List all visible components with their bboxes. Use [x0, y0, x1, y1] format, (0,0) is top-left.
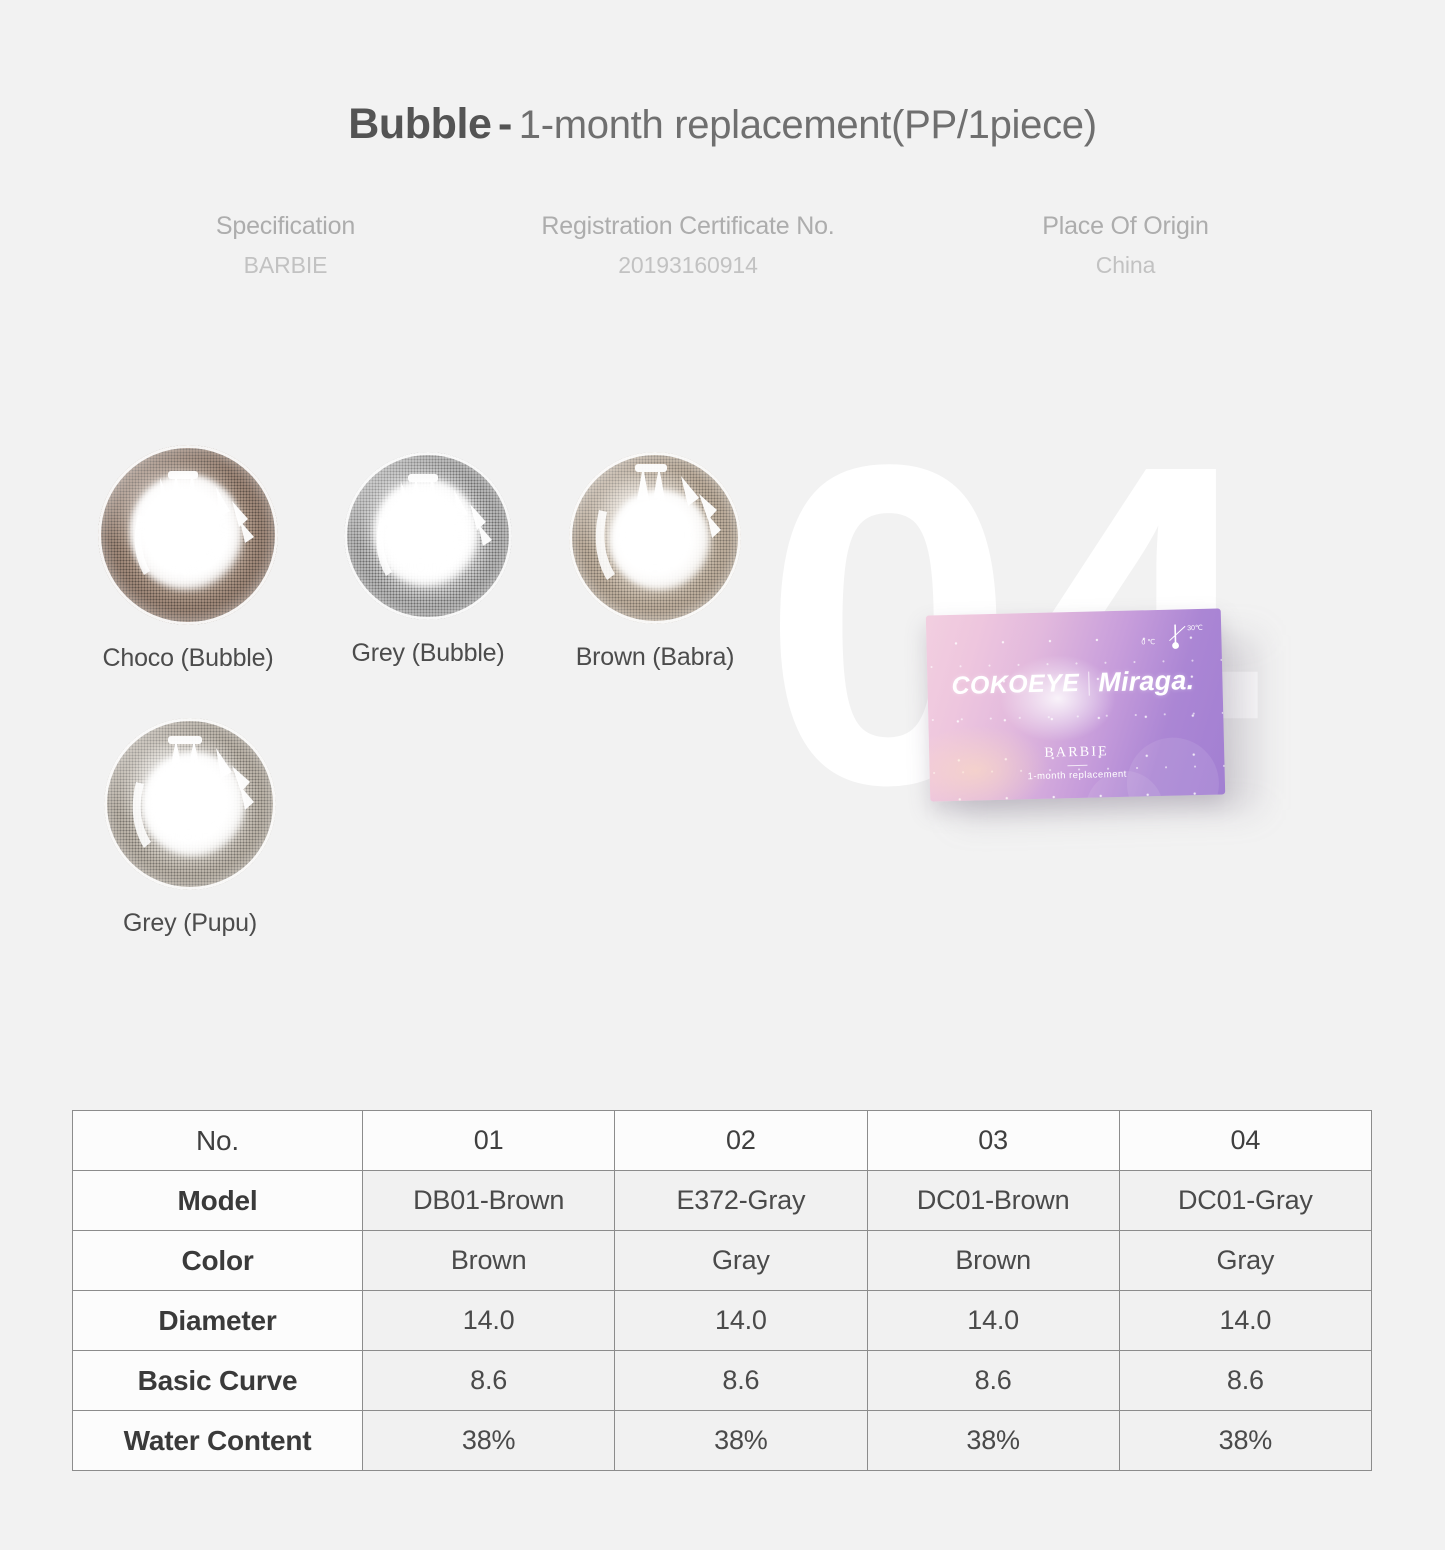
spec-value: 20193160914 — [453, 252, 923, 279]
table-row: Color Brown Gray Brown Gray — [73, 1231, 1372, 1291]
table-cell: Brown — [363, 1231, 615, 1291]
spec-value: China — [923, 252, 1328, 279]
box-brand-line: COKOEYE Miraga. — [951, 665, 1194, 702]
lens-swatch-grey-pupu[interactable]: Grey (Pupu) — [100, 718, 280, 938]
brand-divider-icon — [1088, 671, 1090, 695]
table-row: Water Content 38% 38% 38% 38% — [73, 1411, 1372, 1471]
lens-caption: Grey (Bubble) — [339, 639, 517, 668]
table-cell: 38% — [363, 1411, 615, 1471]
page-title: Bubble - 1-month replacement(PP/1piece) — [0, 100, 1445, 149]
table-cell: DB01-Brown — [363, 1171, 615, 1231]
lens-swatch-choco-bubble[interactable]: Choco (Bubble) — [92, 445, 284, 673]
table-cell: Gray — [615, 1231, 867, 1291]
brand-primary: COKOEYE — [951, 669, 1079, 701]
lens-image — [104, 718, 276, 890]
spec-value: BARBIE — [118, 252, 453, 279]
box-footer: BARBIE 1-month replacement — [929, 741, 1225, 784]
spec-label: Registration Certificate No. — [453, 212, 923, 241]
table-cell: DC01-Brown — [867, 1171, 1119, 1231]
table-header-04: 04 — [1119, 1111, 1371, 1171]
box-footer-rule — [1067, 765, 1087, 766]
lens-swatch-brown-babra[interactable]: Brown (Babra) — [565, 452, 745, 672]
table-cell: 38% — [1119, 1411, 1371, 1471]
table-cell: Gray — [1119, 1231, 1371, 1291]
table-cell: Brown — [867, 1231, 1119, 1291]
product-name: Bubble — [348, 100, 491, 148]
row-label-color: Color — [73, 1231, 363, 1291]
table-cell: 8.6 — [1119, 1351, 1371, 1411]
table-cell: DC01-Gray — [1119, 1171, 1371, 1231]
specification-strip: Specification BARBIE Registration Certif… — [118, 212, 1328, 279]
lens-caption: Brown (Babra) — [565, 643, 745, 672]
row-label-model: Model — [73, 1171, 363, 1231]
product-detail-page: Bubble - 1-month replacement(PP/1piece) … — [0, 0, 1445, 1550]
specification-table: No. 01 02 03 04 Model DB01-Brown E372-Gr… — [72, 1110, 1372, 1471]
spec-item-origin: Place Of Origin China — [923, 212, 1328, 279]
row-label-water-content: Water Content — [73, 1411, 363, 1471]
table-row: Basic Curve 8.6 8.6 8.6 8.6 — [73, 1351, 1372, 1411]
lens-swatch-grey-bubble[interactable]: Grey (Bubble) — [339, 452, 517, 668]
thermometer-icon: 0 ℃ 30℃ — [1141, 620, 1208, 656]
table-cell: 38% — [615, 1411, 867, 1471]
lens-caption: Grey (Pupu) — [100, 909, 280, 938]
spec-item-specification: Specification BARBIE — [118, 212, 453, 279]
table-cell: 14.0 — [867, 1291, 1119, 1351]
table-cell: 8.6 — [615, 1351, 867, 1411]
table-cell: 14.0 — [1119, 1291, 1371, 1351]
table-cell: E372-Gray — [615, 1171, 867, 1231]
spec-label: Place Of Origin — [923, 212, 1328, 241]
product-box-image[interactable]: COKOEYE Miraga. 0 ℃ 30℃ BARBIE 1-month r… — [926, 608, 1225, 801]
table-row: Model DB01-Brown E372-Gray DC01-Brown DC… — [73, 1171, 1372, 1231]
svg-text:30℃: 30℃ — [1187, 625, 1203, 632]
row-label-basic-curve: Basic Curve — [73, 1351, 363, 1411]
row-label-diameter: Diameter — [73, 1291, 363, 1351]
lens-image — [98, 445, 278, 625]
svg-text:0 ℃: 0 ℃ — [1141, 639, 1155, 646]
table-cell: 8.6 — [867, 1351, 1119, 1411]
table-row: Diameter 14.0 14.0 14.0 14.0 — [73, 1291, 1372, 1351]
lens-image — [344, 452, 512, 620]
table-cell: 8.6 — [363, 1351, 615, 1411]
title-separator: - — [496, 100, 514, 148]
table-header-row: No. 01 02 03 04 — [73, 1111, 1372, 1171]
product-subtitle: 1-month replacement(PP/1piece) — [519, 103, 1097, 147]
table-cell: 14.0 — [615, 1291, 867, 1351]
lens-image — [569, 452, 741, 624]
table-header-02: 02 — [615, 1111, 867, 1171]
table-header-no: No. — [73, 1111, 363, 1171]
brand-secondary: Miraga. — [1098, 665, 1195, 698]
spec-label: Specification — [118, 212, 453, 241]
table-cell: 38% — [867, 1411, 1119, 1471]
table-cell: 14.0 — [363, 1291, 615, 1351]
lens-caption: Choco (Bubble) — [92, 644, 284, 673]
table-header-03: 03 — [867, 1111, 1119, 1171]
spec-item-registration: Registration Certificate No. 20193160914 — [453, 212, 923, 279]
table-header-01: 01 — [363, 1111, 615, 1171]
